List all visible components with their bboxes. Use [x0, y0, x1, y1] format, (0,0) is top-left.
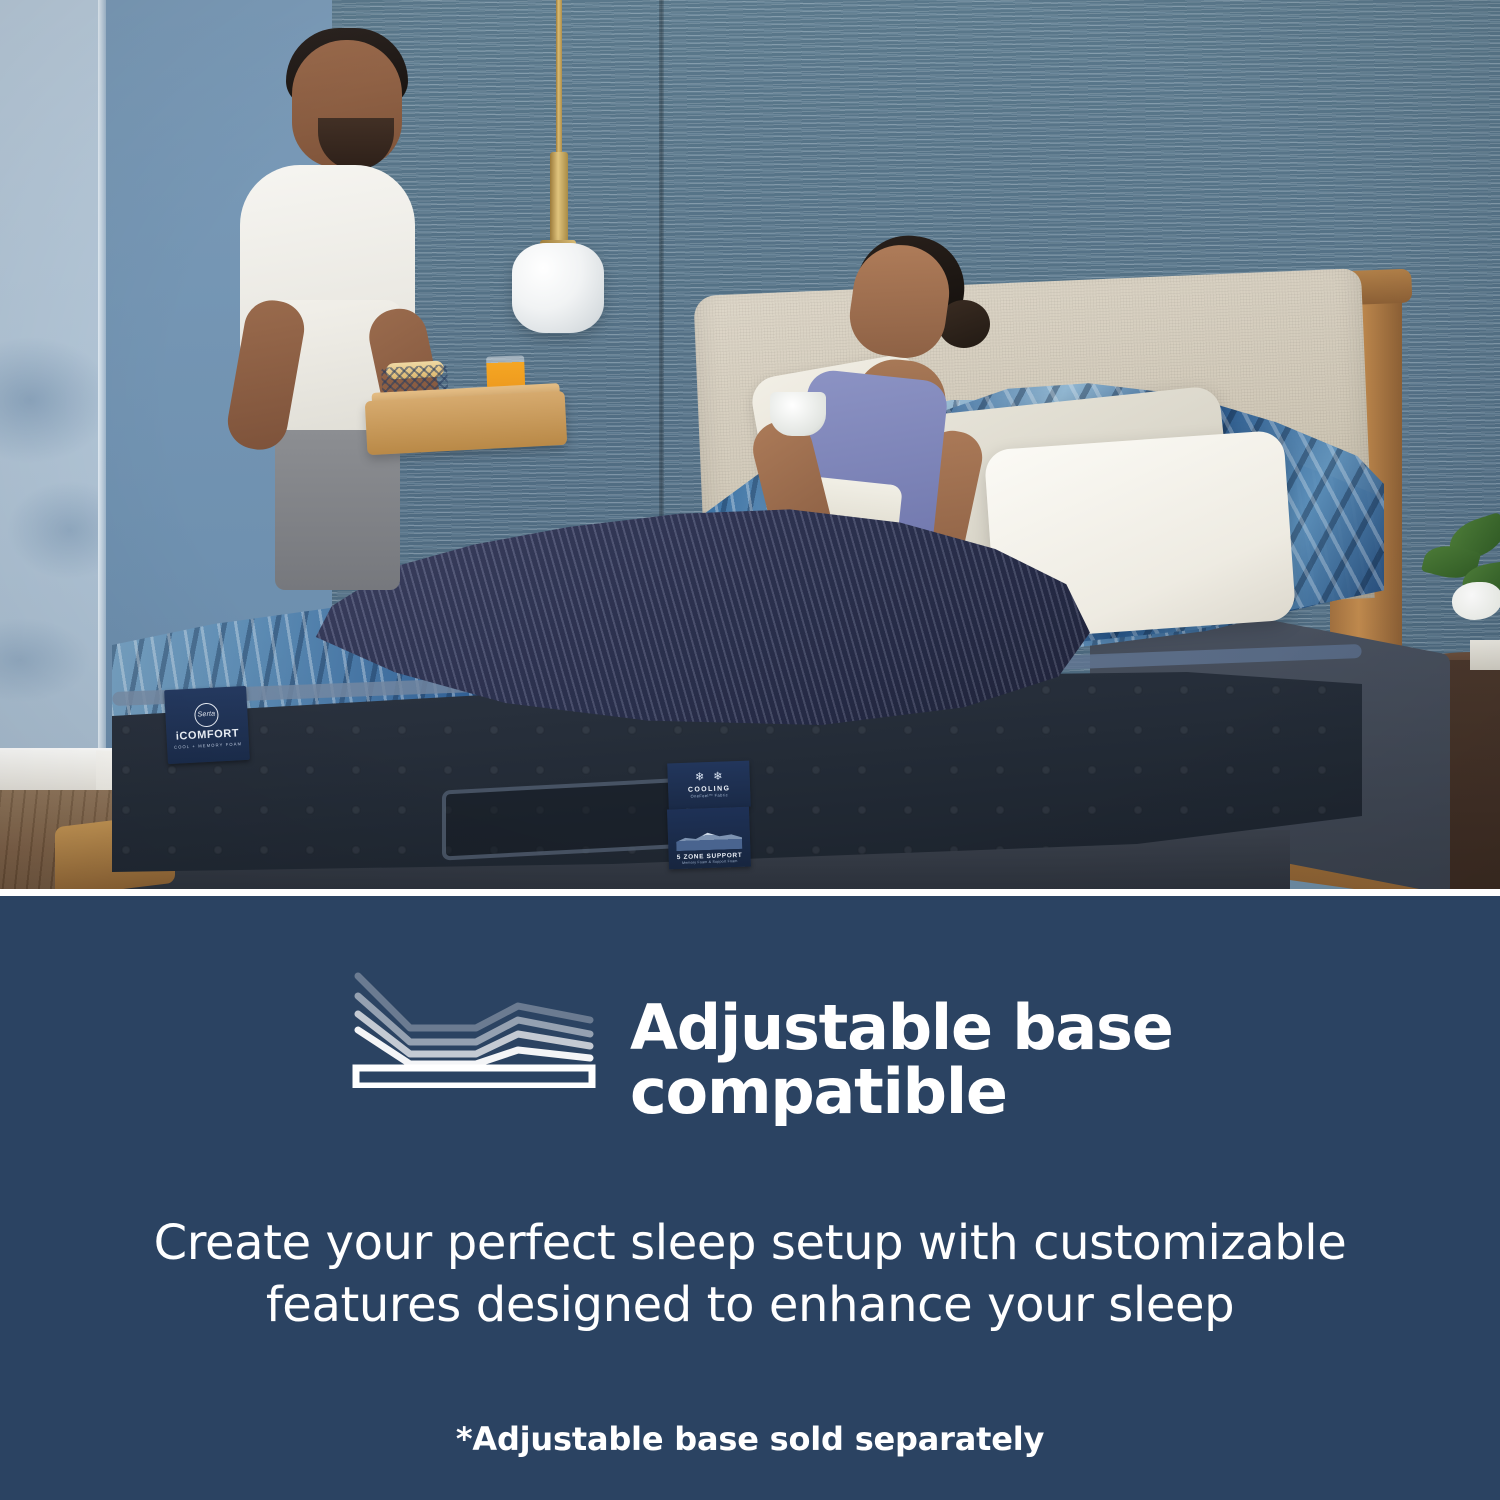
zone-diagram-icon — [676, 825, 743, 851]
panel-footnote: *Adjustable base sold separately — [150, 1420, 1350, 1458]
icomfort-label-title: iCOMFORT — [175, 727, 239, 742]
wall-corner-edge — [98, 0, 106, 790]
panel-hero: Adjustable base compatible — [0, 896, 1500, 1096]
cooling-label-sub: OneFeel™ Fabric — [690, 792, 728, 798]
pendant-globe — [512, 243, 604, 333]
feature-panel: Adjustable base compatible Create your p… — [0, 896, 1500, 1500]
wall-leaf-shadow — [0, 330, 104, 760]
lifestyle-photo: Serta iCOMFORT COOL + MEMORY FOAM ❄ ❄ CO… — [0, 0, 1500, 889]
mattress-handle — [442, 778, 690, 861]
snowflake-icon: ❄ — [713, 772, 723, 783]
breakfast-tray — [365, 391, 568, 455]
snowflake-icon-group: ❄ ❄ — [695, 772, 723, 784]
headline-line-1: Adjustable base — [630, 991, 1173, 1064]
headline-line-2: compatible — [630, 1055, 1007, 1128]
cooling-label: ❄ ❄ COOLING OneFeel™ Fabric — [667, 761, 751, 810]
panel-headline: Adjustable base compatible — [630, 996, 1390, 1125]
adjustable-base-icon — [348, 968, 600, 1088]
panel-subcopy: Create your perfect sleep setup with cus… — [150, 1212, 1350, 1337]
serta-logo-icon: Serta — [194, 702, 219, 727]
serta-logo-text: Serta — [197, 711, 215, 719]
nightstand-book — [1470, 640, 1500, 670]
product-feature-banner: Serta iCOMFORT COOL + MEMORY FOAM ❄ ❄ CO… — [0, 0, 1500, 1500]
pendant-socket — [550, 152, 568, 250]
icomfort-label: Serta iCOMFORT COOL + MEMORY FOAM — [164, 686, 250, 764]
zone-support-label: 5 ZONE SUPPORT Memory Foam & Support Foa… — [667, 807, 751, 870]
flower — [1452, 582, 1500, 620]
icomfort-label-sub: COOL + MEMORY FOAM — [174, 741, 242, 750]
plant — [1418, 520, 1500, 650]
snowflake-icon: ❄ — [695, 772, 705, 783]
zone-label-sub: Memory Foam & Support Foam — [682, 859, 738, 865]
photo-panel-divider — [0, 889, 1500, 896]
coffee-mug — [770, 392, 826, 436]
